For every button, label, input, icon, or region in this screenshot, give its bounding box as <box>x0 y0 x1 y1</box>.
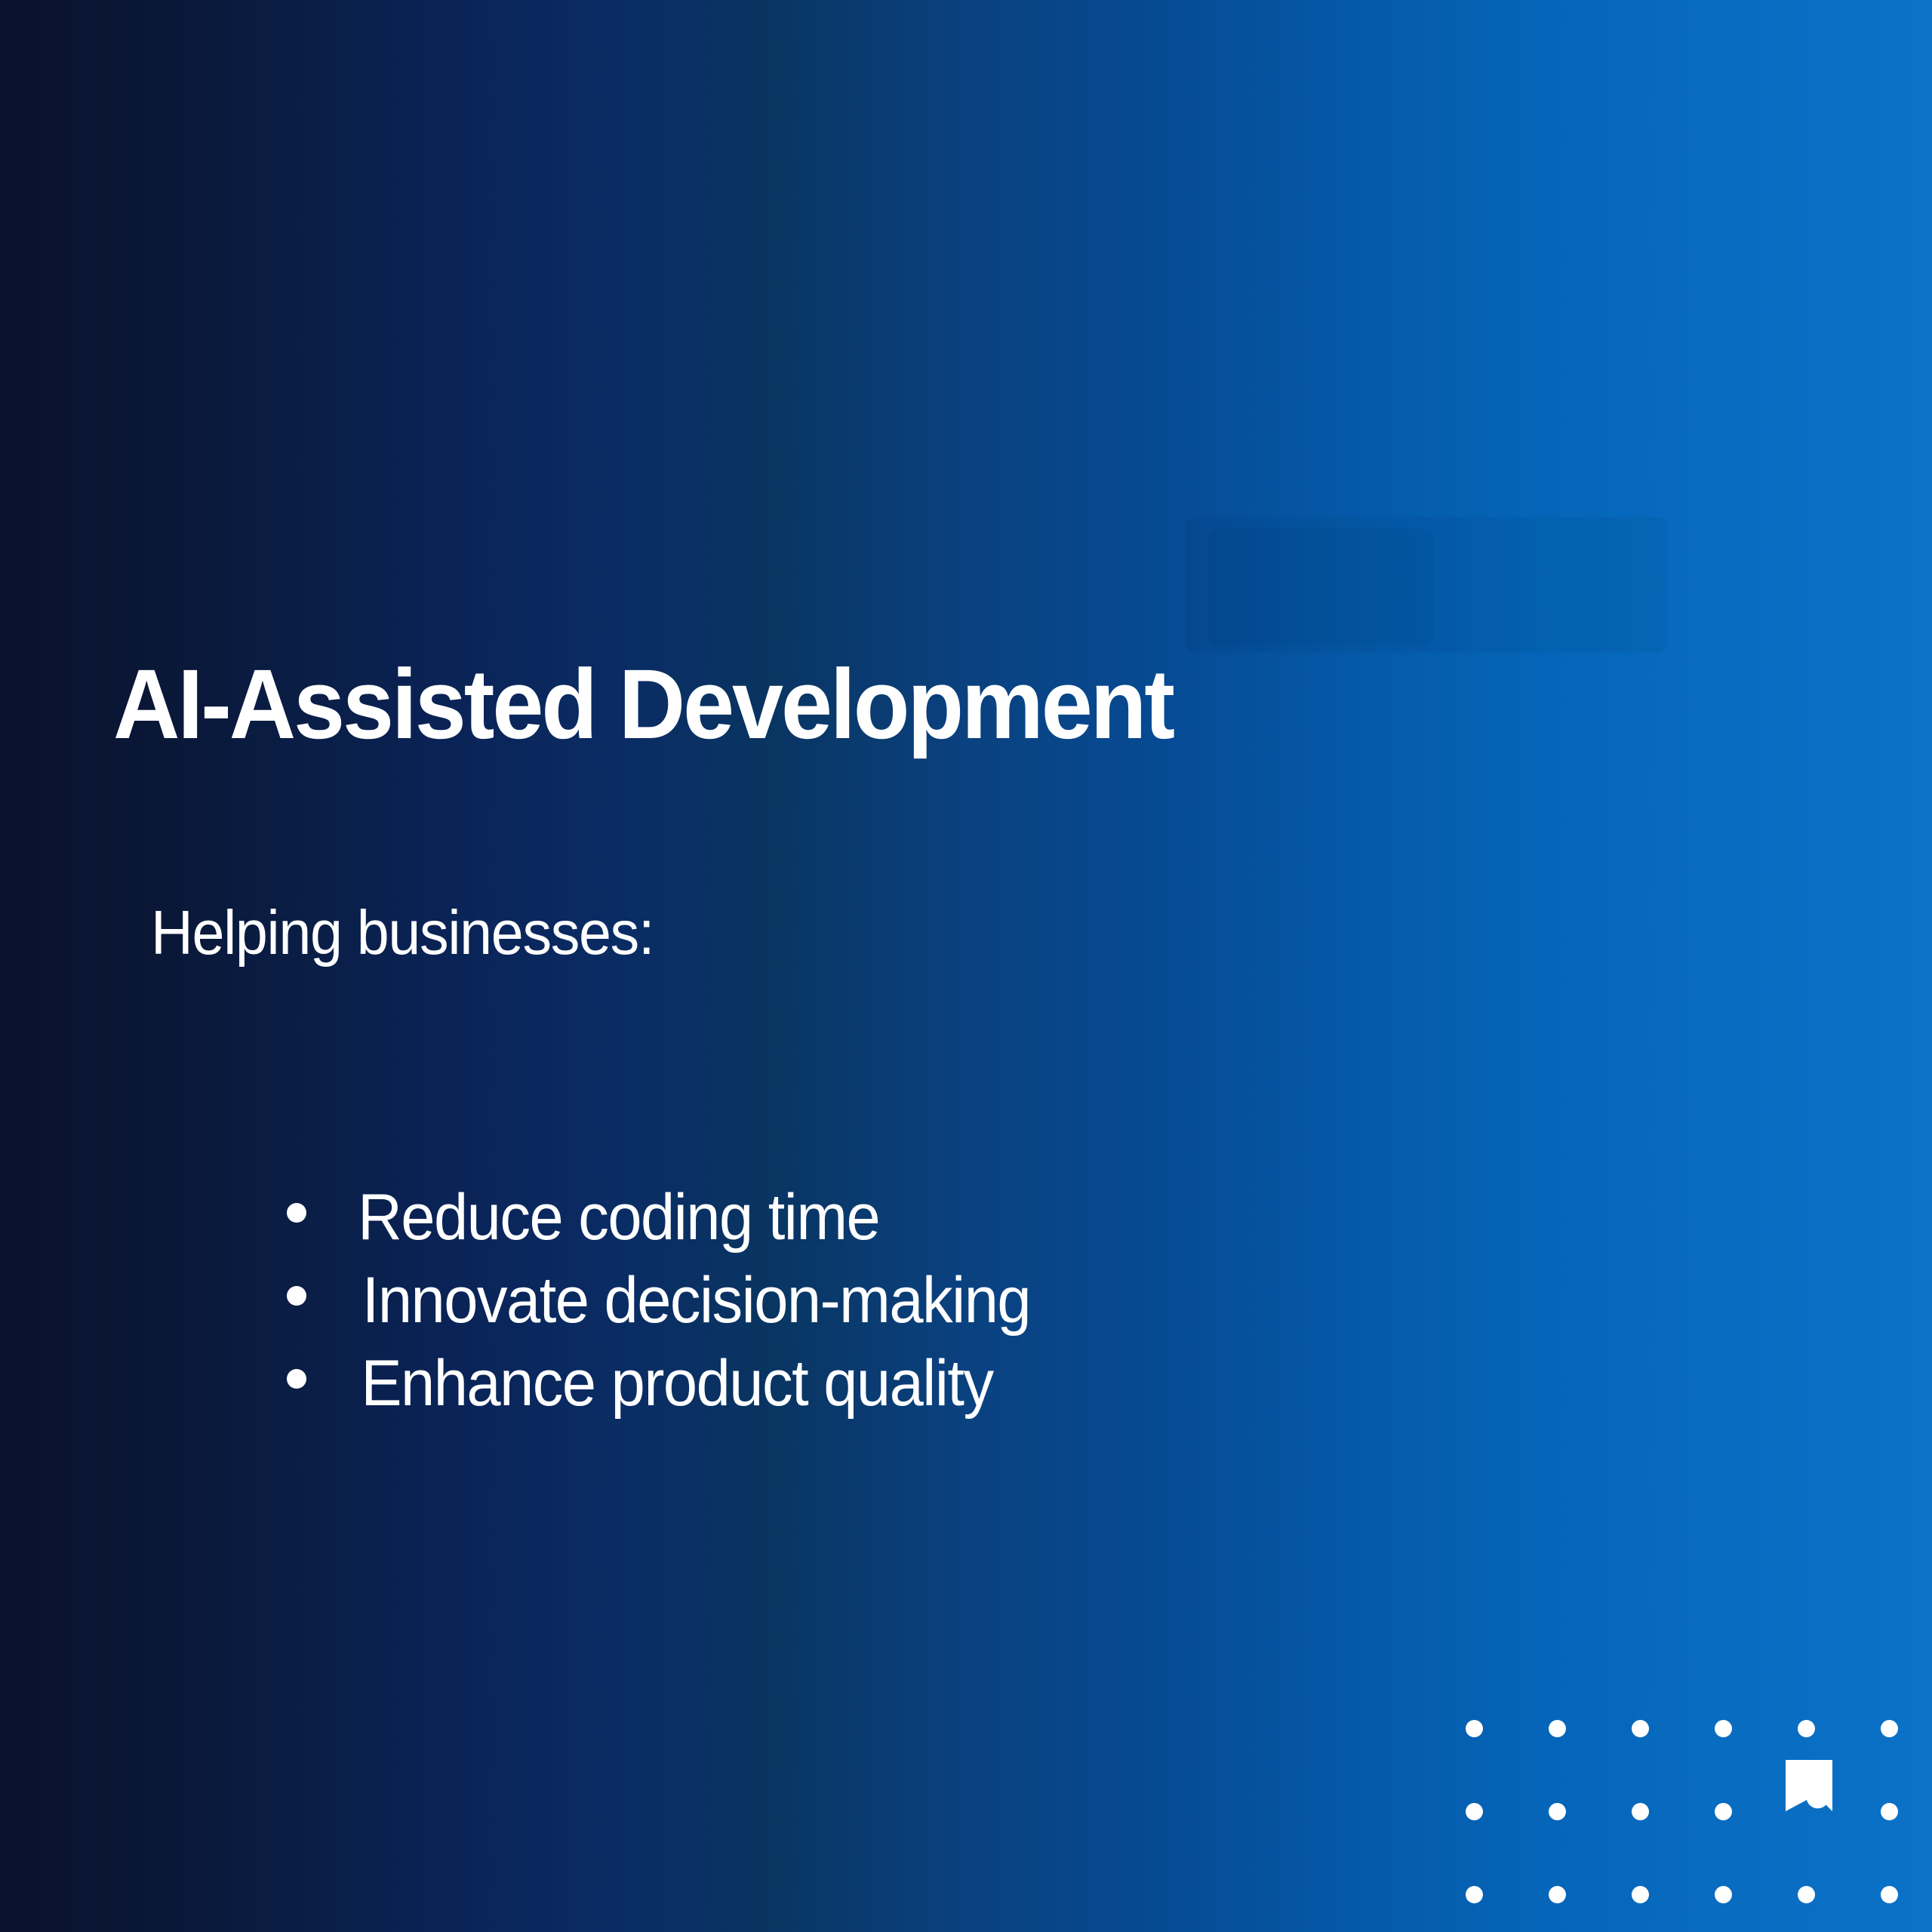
decorative-dot-grid <box>1466 1720 1899 1901</box>
grid-dot <box>1715 1720 1732 1737</box>
slide-content: AI-Assisted Development Helping business… <box>0 0 1932 1932</box>
slide-canvas: AI-Assisted Development Helping business… <box>0 0 1932 1932</box>
bullet-item-label: Enhance product quality <box>361 1351 992 1416</box>
grid-dot <box>1881 1720 1898 1737</box>
bullet-point-icon <box>287 1203 306 1223</box>
list-item: Enhance product quality <box>287 1351 1050 1434</box>
bullet-list: Reduce coding time Innovate decision-mak… <box>287 1185 1050 1434</box>
grid-dot <box>1632 1886 1649 1903</box>
bullet-point-icon <box>287 1286 306 1306</box>
grid-dot <box>1798 1720 1815 1737</box>
list-item: Innovate decision-making <box>287 1268 1050 1351</box>
grid-dot <box>1715 1886 1732 1903</box>
list-item: Reduce coding time <box>287 1185 1050 1268</box>
slide-subtitle: Helping businesses: <box>151 898 654 967</box>
grid-dot <box>1632 1803 1649 1820</box>
bullet-item-label: Innovate decision-making <box>362 1268 1030 1333</box>
grid-dot <box>1881 1803 1898 1820</box>
grid-dot <box>1466 1886 1483 1903</box>
grid-dot <box>1881 1886 1898 1903</box>
bullet-point-icon <box>287 1369 306 1389</box>
grid-dot <box>1632 1720 1649 1737</box>
grid-dot <box>1715 1803 1732 1820</box>
bookmark-arrow-icon <box>1786 1760 1832 1811</box>
grid-dot <box>1466 1803 1483 1820</box>
grid-dot <box>1549 1886 1566 1903</box>
grid-dot <box>1549 1803 1566 1820</box>
grid-dot <box>1549 1720 1566 1737</box>
bullet-item-label: Reduce coding time <box>358 1185 879 1250</box>
grid-dot <box>1466 1720 1483 1737</box>
slide-title: AI-Assisted Development <box>113 651 1666 757</box>
brand-logo-mark <box>1786 1760 1832 1811</box>
grid-dot <box>1798 1886 1815 1903</box>
